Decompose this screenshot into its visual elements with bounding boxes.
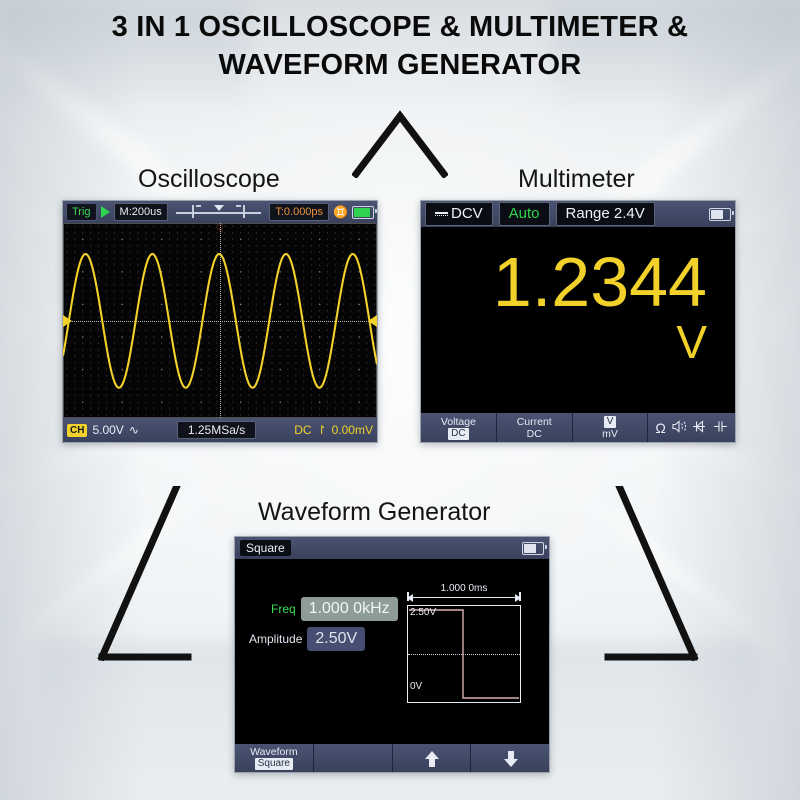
capacitor-icon-svg <box>713 420 728 433</box>
battery-icon <box>522 542 544 555</box>
generator-top-bar: Square <box>235 537 549 559</box>
measurement-unit: V <box>676 319 707 365</box>
current-button-value: DC <box>527 428 542 440</box>
period-dimension-line <box>407 597 521 598</box>
frequency-label: Freq <box>271 602 296 616</box>
page-title: 3 IN 1 OSCILLOSCOPE & MULTIMETER & WAVEF… <box>0 8 800 84</box>
ground-marker-right[interactable] <box>368 315 377 327</box>
unit-button[interactable]: V mV <box>573 413 649 442</box>
arrow-down-icon <box>503 750 517 766</box>
preview-bottom-label: 0V <box>410 681 422 692</box>
auto-range-chip[interactable]: Auto <box>499 202 550 226</box>
waveform-button-label: Waveform <box>250 746 297 758</box>
voltage-button-value: DC <box>448 428 468 440</box>
trigger-time-chip[interactable]: T:0.000ps <box>269 203 329 221</box>
volts-per-div-label: 5.00V <box>92 423 123 437</box>
caption-waveform-generator: Waveform Generator <box>258 498 490 527</box>
measurement-icons-group[interactable]: Ω <box>648 420 735 436</box>
period-label: 1.000 0ms <box>407 583 521 594</box>
unit-button-label: V <box>604 416 617 428</box>
trigger-position-marker: ☟ <box>214 223 226 237</box>
multimeter-screen: DCV Auto Range 2.4V 1.2344 V Voltage DC … <box>420 200 736 443</box>
infographic-page: 3 IN 1 OSCILLOSCOPE & MULTIMETER & WAVEF… <box>0 0 800 800</box>
slider-right-cap-top <box>236 205 241 207</box>
frequency-field-row[interactable]: Freq 1.000 0kHz <box>271 597 398 621</box>
oscilloscope-bottom-bar: CH 5.00V ∿ 1.25MSa/s DC ↾ 0.00mV <box>63 418 377 442</box>
timebase-chip[interactable]: M:200us <box>114 203 168 221</box>
multimeter-bottom-bar: Voltage DC Current DC V mV Ω <box>421 413 735 442</box>
waveform-button-value: Square <box>255 758 293 770</box>
position-slider[interactable] <box>172 201 266 223</box>
capacitor-icon[interactable] <box>713 420 728 436</box>
play-icon[interactable] <box>101 206 110 218</box>
oscilloscope-top-bar: Trig M:200us T:0.000ps ♊ <box>63 201 377 223</box>
trigger-settings-group[interactable]: DC ↾ 0.00mV <box>294 423 373 437</box>
generator-bottom-bar: Waveform Square <box>235 744 549 772</box>
slider-left-cap-top <box>196 205 201 207</box>
frequency-value[interactable]: 1.000 0kHz <box>301 597 398 621</box>
slider-left-cap <box>192 205 194 218</box>
caption-oscilloscope: Oscilloscope <box>138 165 280 194</box>
generator-body: Freq 1.000 0kHz Amplitude 2.50V 1.000 0m… <box>235 559 549 744</box>
square-wave-trace <box>408 606 520 702</box>
slider-right-cap <box>243 205 245 218</box>
unit-button-value: mV <box>602 428 618 440</box>
diode-icon[interactable] <box>692 420 707 436</box>
connector-chevron-top <box>352 110 448 178</box>
multimeter-top-bar: DCV Auto Range 2.4V <box>421 201 735 227</box>
ohm-icon[interactable]: Ω <box>655 420 665 436</box>
buzzer-icon-svg <box>672 420 687 433</box>
battery-charging-icon <box>352 206 374 219</box>
period-arrow-left-icon <box>407 594 413 602</box>
buzzer-icon[interactable] <box>672 420 687 436</box>
waveform-generator-screen: Square Freq 1.000 0kHz Amplitude 2.50V 1… <box>234 536 550 773</box>
increase-button[interactable] <box>393 744 472 772</box>
decrease-button[interactable] <box>471 744 549 772</box>
current-button-label: Current <box>517 416 552 428</box>
trigger-level-label: 0.00mV <box>332 423 373 437</box>
period-arrow-right-icon <box>515 594 521 602</box>
amplitude-value[interactable]: 2.50V <box>307 627 365 651</box>
ground-marker-left[interactable] <box>63 315 72 327</box>
waveform-type-tag[interactable]: Square <box>240 540 291 556</box>
measure-mode-chip[interactable]: DCV <box>425 202 493 226</box>
page-title-line1: 3 IN 1 OSCILLOSCOPE & MULTIMETER & <box>112 11 689 43</box>
arrow-up-icon <box>424 750 438 766</box>
channel-settings-group[interactable]: CH 5.00V ∿ <box>67 423 139 437</box>
empty-button[interactable] <box>314 744 393 772</box>
measure-mode-label: DCV <box>451 205 483 222</box>
waveform-preview: 1.000 0ms 2.50V 0V <box>407 583 521 703</box>
trigger-source-label: DC <box>294 423 311 437</box>
sine-waveform-trace <box>63 223 377 419</box>
amplitude-label: Amplitude <box>249 632 302 646</box>
ac-coupling-icon: ∿ <box>129 423 139 437</box>
voltage-button[interactable]: Voltage DC <box>421 413 497 442</box>
usb-icon: ♊ <box>333 206 348 218</box>
preview-frame: 2.50V 0V <box>407 605 521 703</box>
preview-top-label: 2.50V <box>410 607 436 618</box>
voltage-button-label: Voltage <box>441 416 476 428</box>
oscilloscope-graticule: ☟ <box>63 223 377 418</box>
slider-thumb-icon[interactable] <box>214 205 224 211</box>
current-button[interactable]: Current DC <box>497 413 573 442</box>
trig-status-chip[interactable]: Trig <box>66 203 97 221</box>
rising-edge-icon: ↾ <box>317 423 327 437</box>
waveform-button[interactable]: Waveform Square <box>235 744 314 772</box>
measurement-value: 1.2344 <box>493 247 707 317</box>
diode-icon-svg <box>692 420 707 433</box>
dc-symbol-icon <box>435 211 448 218</box>
multimeter-readout: 1.2344 V <box>421 227 735 413</box>
page-title-line2: WAVEFORM GENERATOR <box>0 46 800 84</box>
amplitude-field-row[interactable]: Amplitude 2.50V <box>249 627 365 651</box>
oscilloscope-screen: Trig M:200us T:0.000ps ♊ ☟ <box>62 200 378 443</box>
battery-icon <box>709 208 731 221</box>
slider-track <box>176 212 262 214</box>
range-chip[interactable]: Range 2.4V <box>556 202 655 226</box>
channel-badge[interactable]: CH <box>67 424 87 437</box>
sample-rate-label: 1.25MSa/s <box>177 421 256 439</box>
caption-multimeter: Multimeter <box>518 165 635 194</box>
